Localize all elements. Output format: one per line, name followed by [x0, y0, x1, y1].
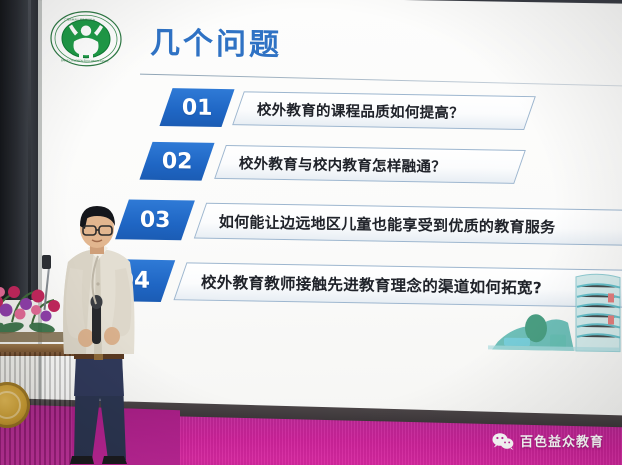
question-text: 如何能让边远地区儿童也能享受到优质的教育服务	[201, 210, 556, 237]
title-divider	[140, 74, 622, 87]
question-number: 02	[162, 148, 193, 174]
svg-text:广西百色市儿童教育研究会: 广西百色市儿童教育研究会	[64, 17, 96, 22]
organization-logo-icon: 广西百色市儿童教育研究会 BAISE CHILDREN EDUCATION AS…	[48, 8, 124, 69]
presentation-photo: 广西百色市儿童教育研究会 BAISE CHILDREN EDUCATION AS…	[0, 0, 622, 465]
question-text: 校外教育的课程品质如何提高？	[239, 98, 464, 123]
wechat-icon	[492, 432, 514, 450]
question-number: 01	[182, 95, 213, 121]
presenter	[46, 206, 168, 465]
slide-title: 几个问题	[150, 18, 282, 64]
question-number-badge: 01	[159, 88, 234, 127]
question-box: 校外教育与校内教育怎样融通？	[214, 145, 526, 184]
building-illustration	[458, 257, 622, 370]
question-box: 校外教育的课程品质如何提高？	[232, 91, 536, 130]
question-box: 如何能让边远地区儿童也能享受到优质的教育服务	[194, 203, 622, 246]
wall-pillar	[0, 0, 40, 300]
watermark: 百色益众教育	[486, 428, 612, 453]
svg-text:BAISE CHILDREN EDUCATION ASSOC: BAISE CHILDREN EDUCATION ASSOC.	[61, 58, 110, 63]
watermark-text: 百色益众教育	[520, 431, 604, 450]
question-number-badge: 02	[139, 142, 214, 181]
question-text: 校外教育与校内教育怎样融通？	[221, 151, 446, 176]
pillar-edge	[28, 0, 31, 300]
